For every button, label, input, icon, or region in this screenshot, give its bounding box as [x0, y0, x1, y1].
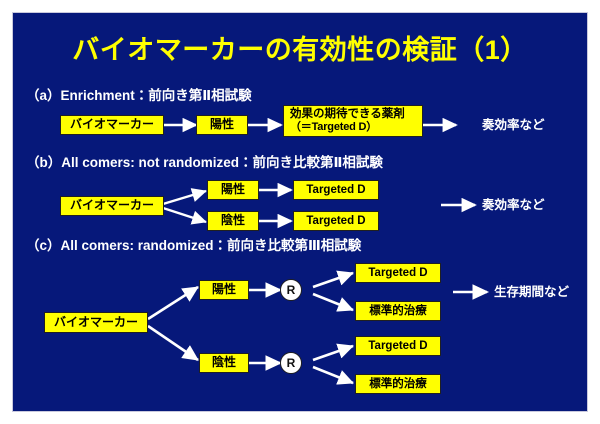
- arrow-c-random-pos-to-standard: [313, 294, 353, 310]
- box-a-targeted-drug-line2: （＝Targeted D）: [290, 121, 417, 133]
- label-b-outcome: 奏効率など: [482, 199, 545, 212]
- label-a-outcome: 奏効率など: [482, 119, 545, 132]
- slide-canvas: バイオマーカーの有効性の検証（1）: [12, 12, 588, 412]
- arrow-c-random-neg-to-standard: [313, 367, 353, 383]
- box-a-positive[interactable]: 陽性: [196, 115, 248, 135]
- arrow-b-biomarker-to-positive: [163, 191, 206, 204]
- section-a-heading: （a）Enrichment：前向き第Ⅱ相試験: [26, 89, 252, 103]
- box-c-standard-negative[interactable]: 標準的治療: [355, 374, 441, 394]
- box-b-targeted-positive[interactable]: Targeted D: [293, 180, 379, 200]
- box-c-negative[interactable]: 陰性: [199, 353, 249, 373]
- box-c-targeted-negative[interactable]: Targeted D: [355, 336, 441, 356]
- circle-c-randomization-positive[interactable]: R: [280, 279, 302, 301]
- box-a-targeted-drug-line1: 効果の期待できる薬剤: [290, 108, 417, 121]
- arrow-c-random-neg-to-targeted: [313, 346, 353, 360]
- box-b-negative[interactable]: 陰性: [207, 211, 259, 231]
- box-c-biomarker[interactable]: バイオマーカー: [44, 312, 148, 333]
- box-a-targeted-drug[interactable]: 効果の期待できる薬剤 （＝Targeted D）: [283, 105, 423, 137]
- label-c-outcome: 生存期間など: [494, 286, 569, 299]
- page-title: バイオマーカーの有効性の検証（1）: [13, 37, 587, 64]
- arrow-b-biomarker-to-negative: [163, 208, 206, 222]
- box-a-biomarker[interactable]: バイオマーカー: [60, 115, 164, 135]
- box-b-biomarker[interactable]: バイオマーカー: [60, 196, 164, 216]
- arrow-c-random-pos-to-targeted: [313, 273, 353, 287]
- box-b-positive[interactable]: 陽性: [207, 180, 259, 200]
- circle-c-randomization-negative[interactable]: R: [280, 352, 302, 374]
- box-c-positive[interactable]: 陽性: [199, 280, 249, 300]
- arrow-c-biomarker-to-positive: [148, 287, 198, 319]
- box-c-standard-positive[interactable]: 標準的治療: [355, 301, 441, 321]
- box-c-targeted-positive[interactable]: Targeted D: [355, 263, 441, 283]
- arrow-c-biomarker-to-negative: [148, 326, 198, 360]
- box-b-targeted-negative[interactable]: Targeted D: [293, 211, 379, 231]
- section-c-heading: （c）All comers: randomized：前向き比較第Ⅲ相試験: [26, 239, 361, 253]
- section-b-heading: （b）All comers: not randomized：前向き比較第Ⅱ相試験: [26, 156, 383, 170]
